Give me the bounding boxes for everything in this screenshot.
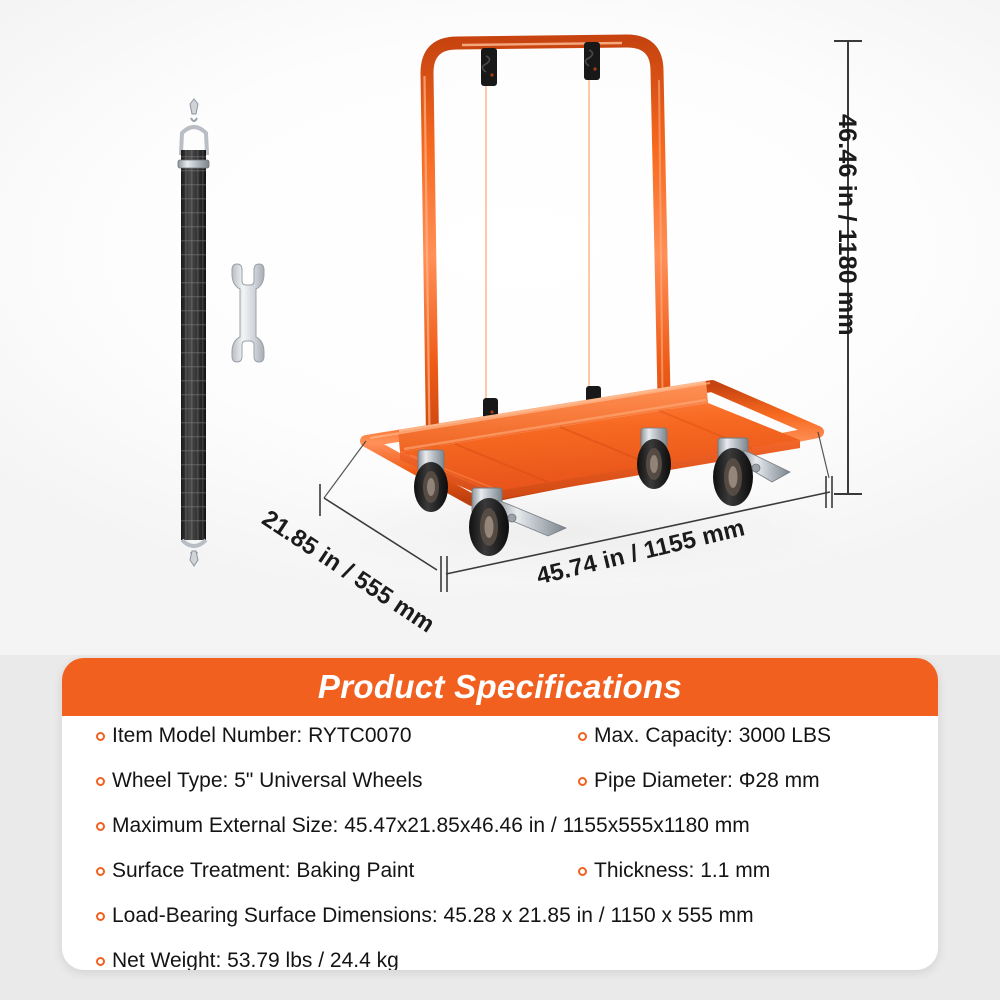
open-end-wrench: [232, 264, 264, 362]
spec-item-text: Max. Capacity: 3000 LBS: [594, 724, 831, 748]
spec-item-thickness: Thickness: 1.1 mm: [578, 859, 770, 883]
product-illustration-area: 46.46 in / 1180 mm 45.74 in / 1155 mm 21…: [0, 0, 1000, 655]
spec-row: Item Model Number: RYTC0070 Max. Capacit…: [62, 724, 938, 769]
spec-list: Item Model Number: RYTC0070 Max. Capacit…: [62, 716, 938, 970]
spec-card-title: Product Specifications: [318, 668, 682, 706]
spec-item-max-external-size: Maximum External Size: 45.47x21.85x46.46…: [96, 814, 750, 838]
product-specifications-card: Product Specifications Item Model Number…: [62, 658, 938, 970]
spec-item-text: Item Model Number: RYTC0070: [112, 724, 412, 748]
spec-item-text: Pipe Diameter: Φ28 mm: [594, 769, 820, 793]
spec-item-max-capacity: Max. Capacity: 3000 LBS: [578, 724, 831, 748]
spec-item-text: Maximum External Size: 45.47x21.85x46.46…: [112, 814, 750, 838]
spec-item-pipe-diameter: Pipe Diameter: Φ28 mm: [578, 769, 820, 793]
dimension-height-label: 46.46 in / 1180 mm: [832, 114, 861, 336]
bullet-icon: [578, 732, 587, 741]
bullet-icon: [578, 867, 587, 876]
caster-wheel: [469, 488, 566, 556]
spec-item-text: Load-Bearing Surface Dimensions: 45.28 x…: [112, 904, 754, 928]
spec-item-text: Wheel Type: 5" Universal Wheels: [112, 769, 423, 793]
bullet-icon: [96, 777, 105, 786]
bullet-icon: [96, 867, 105, 876]
bullet-icon: [96, 732, 105, 741]
bullet-icon: [96, 957, 105, 966]
spec-item-surface-treatment: Surface Treatment: Baking Paint: [96, 859, 414, 883]
spec-item-text: Surface Treatment: Baking Paint: [112, 859, 414, 883]
spec-row: Net Weight: 53.79 lbs / 24.4 kg: [62, 949, 938, 970]
spec-item-text: Net Weight: 53.79 lbs / 24.4 kg: [112, 949, 399, 970]
bullet-icon: [96, 912, 105, 921]
spec-item-text: Thickness: 1.1 mm: [594, 859, 770, 883]
spec-row: Load-Bearing Surface Dimensions: 45.28 x…: [62, 904, 938, 949]
caster-wheel: [637, 428, 671, 489]
bullet-icon: [96, 822, 105, 831]
clamp-icon: [584, 42, 600, 80]
spec-item-net-weight: Net Weight: 53.79 lbs / 24.4 kg: [96, 949, 399, 970]
spec-item-load-bearing-dimensions: Load-Bearing Surface Dimensions: 45.28 x…: [96, 904, 754, 928]
bullet-icon: [578, 777, 587, 786]
tie-down-strap: [178, 99, 209, 566]
spec-row: Maximum External Size: 45.47x21.85x46.46…: [62, 814, 938, 859]
caster-wheel: [414, 450, 448, 512]
spec-row: Surface Treatment: Baking Paint Thicknes…: [62, 859, 938, 904]
spec-row: Wheel Type: 5" Universal Wheels Pipe Dia…: [62, 769, 938, 814]
product-spec-page: 46.46 in / 1180 mm 45.74 in / 1155 mm 21…: [0, 0, 1000, 1000]
spec-card-header: Product Specifications: [62, 658, 938, 716]
spec-item-wheel-type: Wheel Type: 5" Universal Wheels: [96, 769, 423, 793]
clamp-icon: [481, 48, 497, 86]
spec-item-model-number: Item Model Number: RYTC0070: [96, 724, 412, 748]
